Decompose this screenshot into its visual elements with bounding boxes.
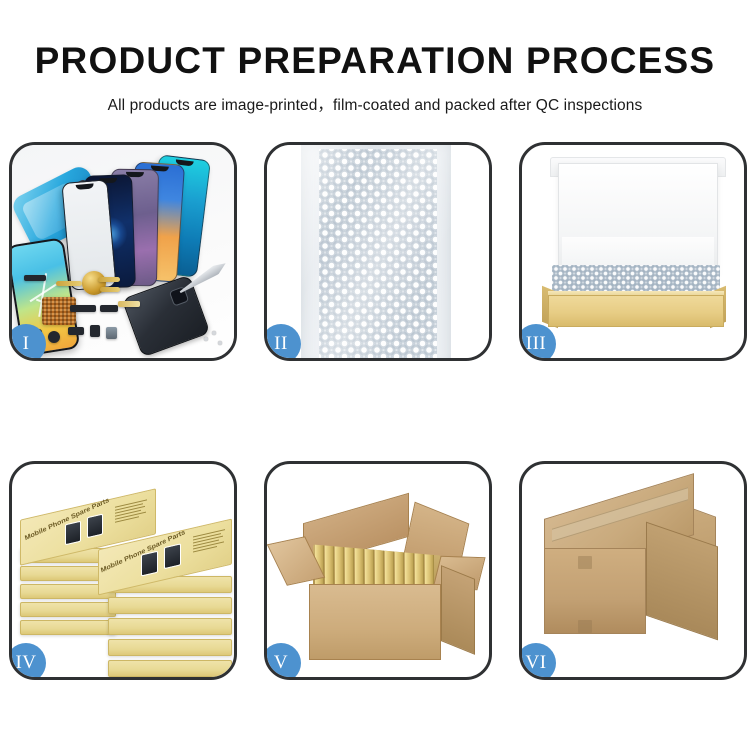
panel-4-image: Mobile Phone Spare Parts — [12, 464, 234, 677]
box-print-phone-icon — [65, 521, 81, 546]
flex-cable-icon — [98, 277, 120, 282]
panel-step-1: I — [9, 142, 237, 361]
box-stack: Mobile Phone Spare Parts — [20, 490, 234, 676]
flex-cable-icon — [118, 301, 140, 307]
carton-handle-tab — [578, 620, 592, 633]
notch-icon — [76, 183, 94, 190]
carton-side-face — [441, 565, 475, 655]
carton-front-face — [309, 584, 441, 660]
spare-part-icon — [70, 305, 96, 312]
box-print-text-lines — [193, 529, 227, 555]
panel-step-4: Mobile Phone Spare Parts — [9, 461, 237, 680]
step-badge-5: V — [264, 643, 301, 680]
flex-cable-icon — [56, 281, 82, 286]
panel-step-2: II — [264, 142, 492, 361]
yellow-box-item — [335, 546, 344, 589]
yellow-box-item — [325, 545, 334, 588]
spare-part-icon — [48, 331, 60, 343]
step-badge-4: IV — [9, 643, 46, 680]
spare-part-icon — [106, 327, 117, 339]
stacked-box — [20, 602, 116, 617]
panel-2-image — [267, 145, 489, 358]
carton-handle-tab — [578, 556, 592, 569]
box-front-kraft — [548, 295, 724, 327]
box-print-phone-icon — [164, 543, 181, 569]
stacked-box — [108, 639, 232, 656]
flex-cable-icon — [100, 287, 120, 292]
infographic-page: PRODUCT PREPARATION PROCESS All products… — [0, 0, 750, 750]
stacked-box — [108, 660, 232, 677]
stacked-box — [108, 597, 232, 614]
bubble-wrap-gloss — [301, 145, 451, 358]
panel-5-image — [267, 464, 489, 677]
step-badge-3: III — [519, 324, 556, 361]
panel-1-image — [12, 145, 234, 358]
panel-6-image — [522, 464, 744, 677]
screw-icon — [204, 337, 208, 341]
box-print-text-lines — [115, 499, 149, 525]
step-badge-2: II — [264, 324, 301, 361]
box-print-phone-icon — [87, 514, 103, 539]
spare-part-icon — [24, 275, 46, 281]
panel-step-3: III — [519, 142, 747, 361]
screw-icon — [212, 331, 216, 335]
page-subtitle: All products are image-printed，film-coat… — [0, 93, 750, 115]
panel-step-5: V — [264, 461, 492, 680]
stacked-box — [108, 618, 232, 635]
spare-part-icon — [100, 305, 118, 312]
spare-part-icon — [90, 325, 100, 337]
stacked-box — [20, 620, 116, 635]
carton-front-face — [544, 548, 646, 634]
step-badge-6: VI — [519, 643, 556, 680]
step-badge-1: I — [9, 324, 46, 361]
header: PRODUCT PREPARATION PROCESS All products… — [0, 0, 750, 115]
panel-3-image — [522, 145, 744, 358]
panel-step-6: VI — [519, 461, 747, 680]
screw-icon — [218, 341, 222, 345]
page-title: PRODUCT PREPARATION PROCESS — [0, 42, 750, 79]
spare-part-icon — [68, 327, 84, 335]
